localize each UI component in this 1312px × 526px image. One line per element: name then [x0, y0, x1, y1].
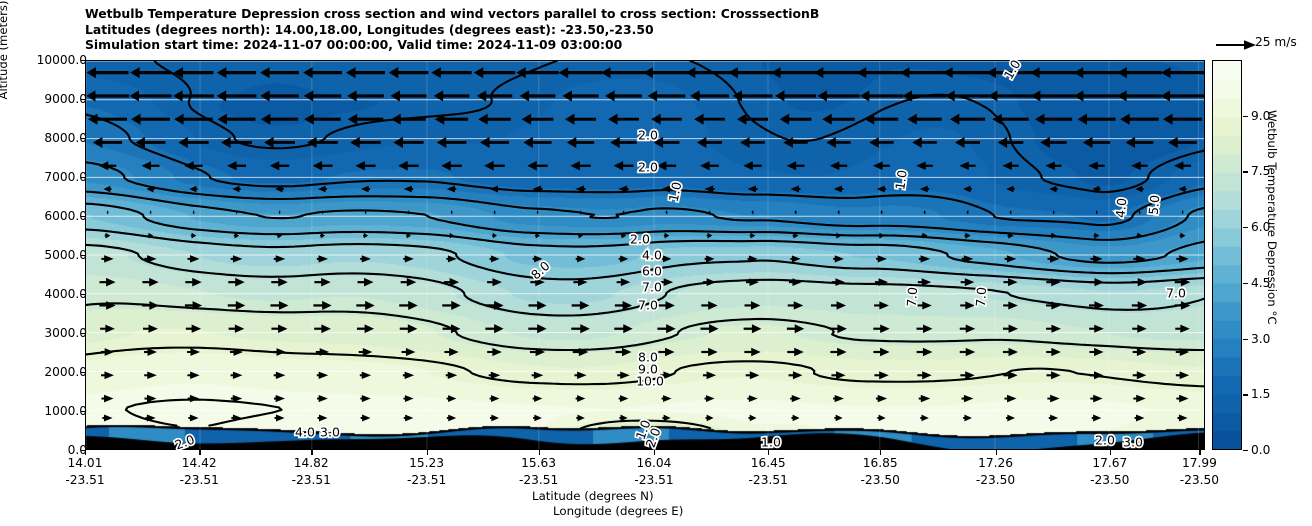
- x-axis-latitude-label: 14.82: [294, 456, 329, 470]
- y-axis-tick-mark: [81, 255, 86, 256]
- x-axis-latitude-label: 17.26: [978, 456, 1013, 470]
- reference-vector-label: 25 m/s: [1255, 35, 1297, 49]
- x-axis-tick-mark: [1110, 450, 1111, 455]
- wind-vector-arrows: [86, 61, 1204, 449]
- colorbar-wrap: [1212, 60, 1242, 450]
- y-axis-tick-mark: [81, 411, 86, 412]
- y-axis-tick-label: 0.0: [0, 443, 87, 457]
- x-axis-latitude-label: 17.67: [1092, 456, 1127, 470]
- x-axis-tick-mark: [1199, 450, 1200, 455]
- x-axis-tick-mark: [311, 450, 312, 455]
- x-axis-longitude-label: -23.50: [1090, 473, 1129, 487]
- y-axis-tick-mark: [81, 60, 86, 61]
- y-axis-tick-label: 5000.0: [0, 248, 87, 262]
- x-axis-label-latitude: Latitude (degrees N): [532, 489, 654, 503]
- x-axis-longitude-label: -23.51: [65, 473, 104, 487]
- y-axis-tick-label: 9000.0: [0, 92, 87, 106]
- x-axis-latitude-label: 15.63: [521, 456, 556, 470]
- y-axis-tick-mark: [81, 216, 86, 217]
- title-line-1: Wetbulb Temperature Depression cross sec…: [85, 6, 1205, 22]
- y-axis-label: Altitude (meters): [0, 0, 10, 150]
- x-axis-longitude-label: -23.51: [749, 473, 788, 487]
- cross-section-plot: [85, 60, 1205, 450]
- colorbar-tick-mark: [1243, 394, 1248, 395]
- y-axis-tick-label: 2000.0: [0, 365, 87, 379]
- x-axis-latitude-label: 17.99: [1182, 456, 1217, 470]
- x-axis-tick-mark: [199, 450, 200, 455]
- y-axis-tick-label: 4000.0: [0, 287, 87, 301]
- y-axis-tick-mark: [81, 99, 86, 100]
- x-axis-longitude-label: -23.51: [634, 473, 673, 487]
- y-axis-tick-label: 8000.0: [0, 131, 87, 145]
- y-axis-tick-label: 7000.0: [0, 170, 87, 184]
- x-axis-latitude-label: 16.85: [863, 456, 898, 470]
- x-axis-longitude-label: -23.51: [407, 473, 446, 487]
- colorbar-tick-mark: [1243, 227, 1248, 228]
- colorbar-tick-label: 0.0: [1251, 443, 1270, 457]
- y-axis-tick-label: 10000.0: [0, 53, 87, 67]
- chart-title-block: Wetbulb Temperature Depression cross sec…: [85, 6, 1205, 53]
- x-axis-label-longitude: Longitude (degrees E): [553, 504, 683, 518]
- x-axis-longitude-label: -23.50: [1180, 473, 1219, 487]
- colorbar: [1212, 60, 1242, 450]
- colorbar-tick-mark: [1243, 450, 1248, 451]
- title-line-2: Latitudes (degrees north): 14.00,18.00, …: [85, 22, 1205, 38]
- x-axis-tick-mark: [768, 450, 769, 455]
- x-axis-longitude-label: -23.50: [861, 473, 900, 487]
- colorbar-tick-mark: [1243, 171, 1248, 172]
- x-axis-tick-mark: [880, 450, 881, 455]
- x-axis-longitude-label: -23.51: [180, 473, 219, 487]
- x-axis-tick-mark: [996, 450, 997, 455]
- title-line-3: Simulation start time: 2024-11-07 00:00:…: [85, 37, 1205, 53]
- colorbar-tick-mark: [1243, 116, 1248, 117]
- y-axis-tick-mark: [81, 372, 86, 373]
- y-axis-tick-label: 3000.0: [0, 326, 87, 340]
- x-axis-tick-mark: [85, 450, 86, 455]
- y-axis-tick-mark: [81, 333, 86, 334]
- y-axis-tick-mark: [81, 177, 86, 178]
- x-axis-latitude-label: 14.01: [68, 456, 103, 470]
- x-axis-longitude-label: -23.51: [519, 473, 558, 487]
- x-axis-longitude-label: -23.50: [976, 473, 1015, 487]
- x-axis-tick-mark: [539, 450, 540, 455]
- colorbar-title: Wetbulb Temperature Depression °C: [1265, 110, 1279, 400]
- x-axis-latitude-label: 16.45: [751, 456, 786, 470]
- x-axis-tick-mark: [654, 450, 655, 455]
- x-axis-latitude-label: 16.04: [637, 456, 672, 470]
- x-axis-latitude-label: 14.42: [182, 456, 217, 470]
- x-axis-longitude-label: -23.51: [292, 473, 331, 487]
- colorbar-tick-mark: [1243, 283, 1248, 284]
- colorbar-tick-mark: [1243, 339, 1248, 340]
- y-axis-tick-mark: [81, 294, 86, 295]
- y-axis-tick-label: 6000.0: [0, 209, 87, 223]
- x-axis-tick-mark: [427, 450, 428, 455]
- y-axis-tick-label: 1000.0: [0, 404, 87, 418]
- y-axis-tick-mark: [81, 138, 86, 139]
- x-axis-latitude-label: 15.23: [409, 456, 444, 470]
